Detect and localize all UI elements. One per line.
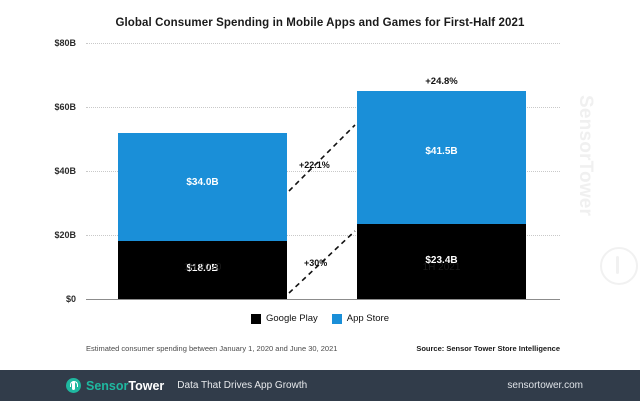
y-axis-label-60: $60B bbox=[0, 102, 76, 112]
legend-item-app-store[interactable]: App Store bbox=[332, 313, 389, 324]
bar-1h-2020[interactable]: $34.0B $18.0B bbox=[118, 133, 287, 299]
footer-url[interactable]: sensortower.com bbox=[507, 380, 583, 391]
y-axis-label-80: $80B bbox=[0, 38, 76, 48]
chart-title: Global Consumer Spending in Mobile Apps … bbox=[0, 17, 640, 29]
watermark-logo-icon bbox=[600, 247, 638, 285]
watermark-text: SensorTower bbox=[574, 95, 596, 245]
footer-bar: SensorTower Data That Drives App Growth … bbox=[0, 370, 640, 401]
legend-swatch-app-store-icon bbox=[332, 314, 342, 324]
annotation-app-store-growth: +22.1% bbox=[299, 160, 330, 170]
plot-area: $34.0B $18.0B +24.8% $41.5B $23.4B +22.1… bbox=[86, 43, 560, 299]
y-axis-label-20: $20B bbox=[0, 230, 76, 240]
chart-footnote: Estimated consumer spending between Janu… bbox=[86, 344, 337, 353]
legend-item-google-play[interactable]: Google Play bbox=[251, 313, 318, 324]
x-axis-line bbox=[86, 299, 560, 300]
logo-text-tower: Tower bbox=[128, 379, 164, 393]
legend-swatch-google-play-icon bbox=[251, 314, 261, 324]
chart-source: Source: Sensor Tower Store Intelligence bbox=[416, 344, 560, 353]
bar-segment-app-store-2020[interactable]: $34.0B bbox=[118, 133, 287, 242]
gridline-80 bbox=[86, 43, 560, 44]
y-axis-label-0: $0 bbox=[0, 294, 76, 304]
sensortower-logo-icon bbox=[66, 378, 81, 393]
annotation-total-growth: +24.8% bbox=[357, 76, 526, 87]
logo-text: SensorTower bbox=[86, 377, 164, 395]
annotation-google-play-growth: +30% bbox=[304, 258, 327, 268]
x-axis-label-1h-2020: 1H 2020 bbox=[118, 262, 287, 273]
growth-connector-app-store bbox=[287, 123, 357, 193]
x-axis-label-1h-2021: 1H 2021 bbox=[357, 262, 526, 273]
bar-value-app-store-2020: $34.0B bbox=[118, 177, 287, 188]
bar-segment-app-store-2021[interactable]: $41.5B bbox=[357, 91, 526, 224]
y-axis-label-40: $40B bbox=[0, 166, 76, 176]
sensortower-logo[interactable]: SensorTower bbox=[66, 377, 164, 395]
footer-tagline: Data That Drives App Growth bbox=[177, 380, 307, 391]
watermark: SensorTower bbox=[596, 95, 638, 285]
legend-label-google-play: Google Play bbox=[266, 313, 318, 324]
chart-legend: Google Play App Store bbox=[0, 313, 640, 324]
logo-text-sensor: Sensor bbox=[86, 379, 128, 393]
bar-value-app-store-2021: $41.5B bbox=[357, 146, 526, 157]
legend-label-app-store: App Store bbox=[347, 313, 389, 324]
chart-container: Global Consumer Spending in Mobile Apps … bbox=[0, 0, 640, 370]
